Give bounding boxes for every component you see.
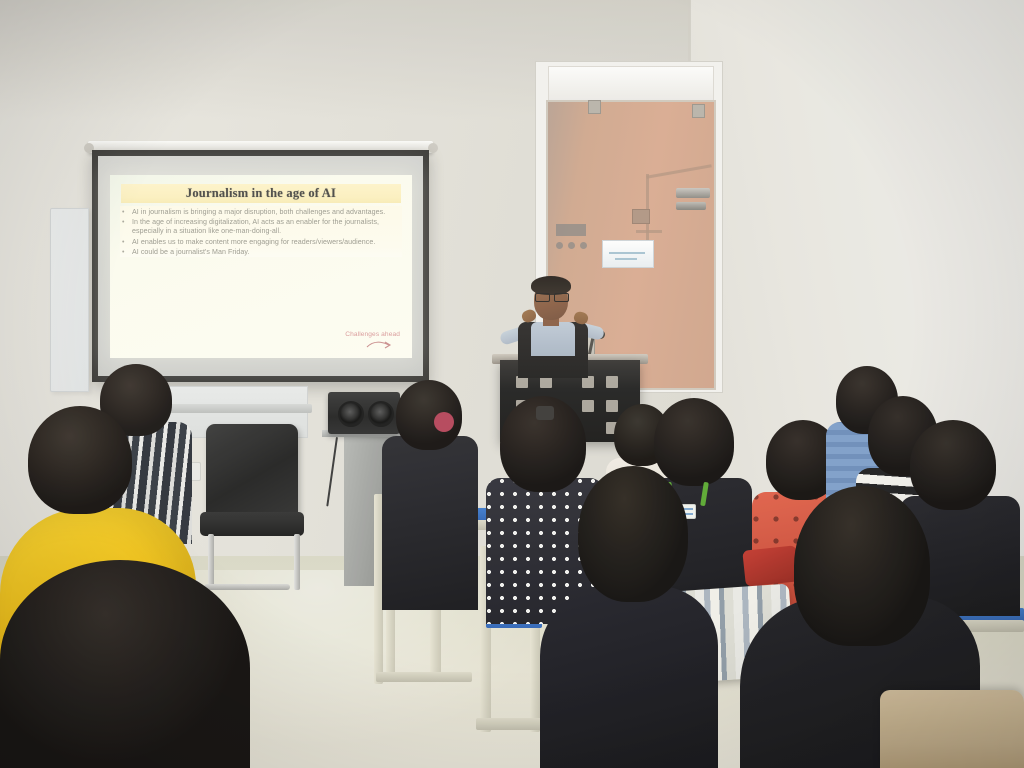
tan-tote-bag <box>880 690 1024 768</box>
office-chair-seat[interactable] <box>200 512 304 536</box>
hair-clip <box>536 406 554 420</box>
slide-bullet-text: AI in journalism is bringing a major dis… <box>132 208 400 217</box>
slide-bullet-text: In the age of increasing digitalization,… <box>132 218 400 236</box>
door-rail <box>636 230 662 233</box>
eyeglasses-icon <box>535 293 567 300</box>
person-head <box>0 560 250 768</box>
list-item: • AI could be a journalist's Man Friday. <box>122 248 400 257</box>
list-item: • AI enables us to make content more eng… <box>122 238 400 247</box>
door-transom <box>548 66 714 102</box>
hair-tie <box>434 412 454 432</box>
student-left-dark <box>382 380 478 610</box>
presenter-speaker <box>498 276 618 376</box>
slide-bullet-text: AI could be a journalist's Man Friday. <box>132 248 400 257</box>
list-item: • AI in journalism is bringing a major d… <box>122 208 400 217</box>
screen-roller-end-right <box>428 143 438 153</box>
slide-title: Journalism in the age of AI <box>121 184 401 203</box>
person-torso <box>382 436 478 610</box>
door-hinge-top <box>692 104 705 118</box>
bullet-marker-icon: • <box>122 208 127 217</box>
classroom-presentation-photo: Journalism in the age of AI • AI in jour… <box>0 0 1024 768</box>
desk-post <box>530 620 540 732</box>
slide-annotation: Challenges ahead <box>345 331 400 338</box>
slide-bullet-list: • AI in journalism is bringing a major d… <box>120 206 402 257</box>
student-center-foreground <box>540 466 718 768</box>
person-head <box>28 406 132 514</box>
bullet-marker-icon: • <box>122 218 127 236</box>
presenter-shirt <box>531 322 575 356</box>
door-hinge-upper <box>588 100 601 114</box>
door-handle-icon[interactable] <box>676 188 710 198</box>
slide-content: Journalism in the age of AI • AI in jour… <box>110 175 412 358</box>
speaker-cone-left <box>338 401 364 427</box>
person-head <box>396 380 462 450</box>
person-head <box>578 466 688 602</box>
projected-slide: Journalism in the age of AI • AI in jour… <box>110 175 412 358</box>
person-torso <box>540 586 718 768</box>
door-interior-knob-2 <box>568 242 575 249</box>
door-interior-knob-1 <box>556 242 563 249</box>
door-closer-box <box>632 209 650 224</box>
arrow-right-icon <box>366 340 392 350</box>
desk-footrail <box>376 672 472 682</box>
bullet-marker-icon: • <box>122 248 127 257</box>
office-chair-backrest[interactable] <box>206 424 298 518</box>
chair-leg-right <box>294 534 300 590</box>
list-item: • In the age of increasing digitalizatio… <box>122 218 400 236</box>
door-interior-device <box>556 224 586 236</box>
slide-bullet-text: AI enables us to make content more engag… <box>132 238 400 247</box>
person-head <box>794 486 930 646</box>
door-handle-lower-icon[interactable] <box>676 202 706 210</box>
door-interior-knob-3 <box>580 242 587 249</box>
door-closer-arm <box>646 164 712 178</box>
student-dark-hair-front <box>0 560 250 768</box>
bullet-marker-icon: • <box>122 238 127 247</box>
wall-notice-sign <box>602 240 654 268</box>
